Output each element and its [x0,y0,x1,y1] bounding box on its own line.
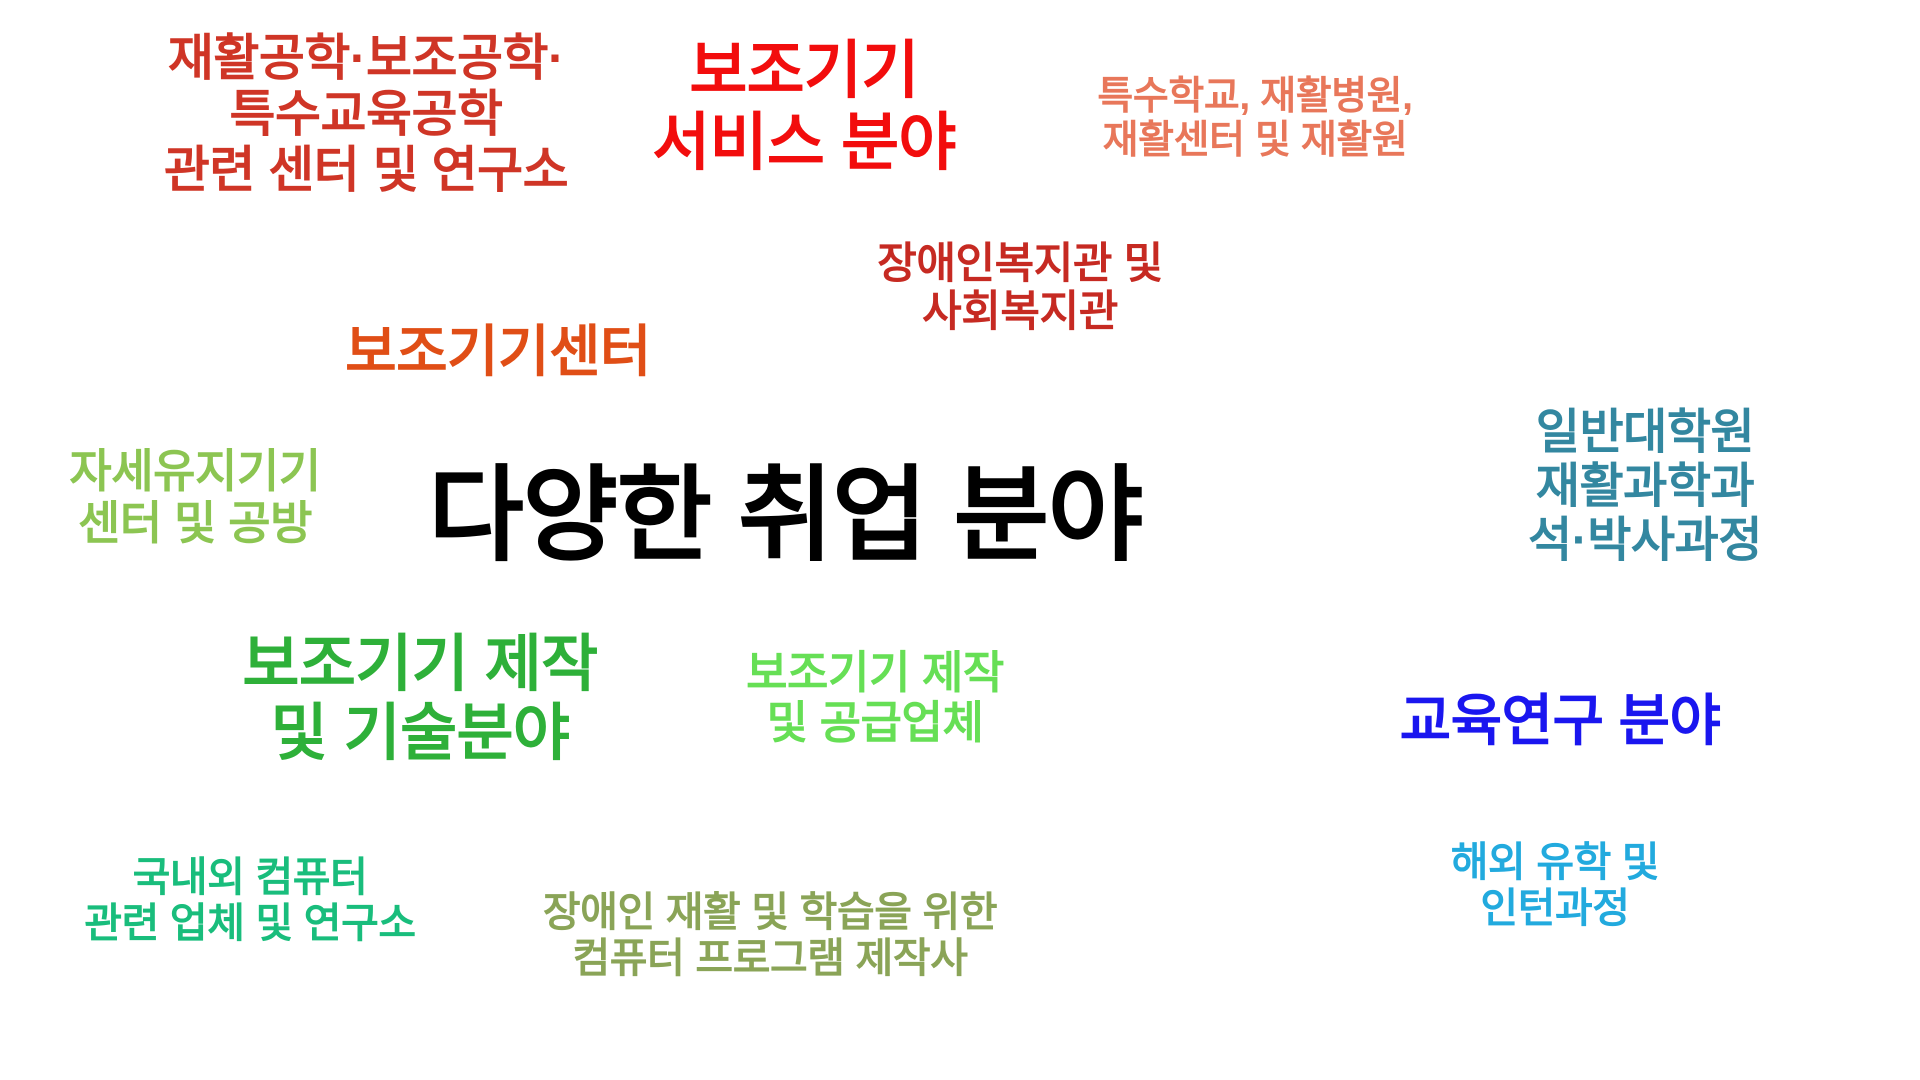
wordcloud-word-overseas-study-internship: 해외 유학 및 인턴과정 [1400,840,1710,932]
wordcloud-word-assistive-device-service-field: 보조기기 서비스 분야 [604,36,1004,180]
wordcloud-word-general-graduate-school: 일반대학원 재활과학과 석·박사과정 [1480,406,1810,567]
wordcloud-word-device-manufacturing-tech-field: 보조기기 제작 및 기술분야 [180,630,660,769]
wordcloud-canvas: 재활공학·보조공학· 특수교육공학 관련 센터 및 연구소 보조기기 서비스 분… [0,0,1920,1080]
wordcloud-word-rehab-engineering-center: 재활공학·보조공학· 특수교육공학 관련 센터 및 연구소 [106,30,626,198]
wordcloud-word-device-manufacture-supplier: 보조기기 제작 및 공급업체 [700,648,1050,749]
wordcloud-word-assistive-device-center: 보조기기센터 [288,321,708,384]
wordcloud-word-education-research-field: 교육연구 분야 [1340,690,1780,753]
wordcloud-word-domestic-overseas-computer: 국내외 컴퓨터 관련 업체 및 연구소 [60,855,440,947]
wordcloud-word-posture-support-device-center: 자세유지기기 센터 및 공방 [30,446,360,549]
wordcloud-word-disability-welfare-center: 장애인복지관 및 사회복지관 [830,240,1210,336]
wordcloud-word-rehab-learning-program-maker: 장애인 재활 및 학습을 위한 컴퓨터 프로그램 제작사 [490,890,1050,982]
wordcloud-word-diverse-employment-field: 다양한 취업 분야 [415,458,1155,574]
wordcloud-word-special-school-rehab-hospital: 특수학교, 재활병원, 재활센터 및 재활원 [1040,75,1470,162]
